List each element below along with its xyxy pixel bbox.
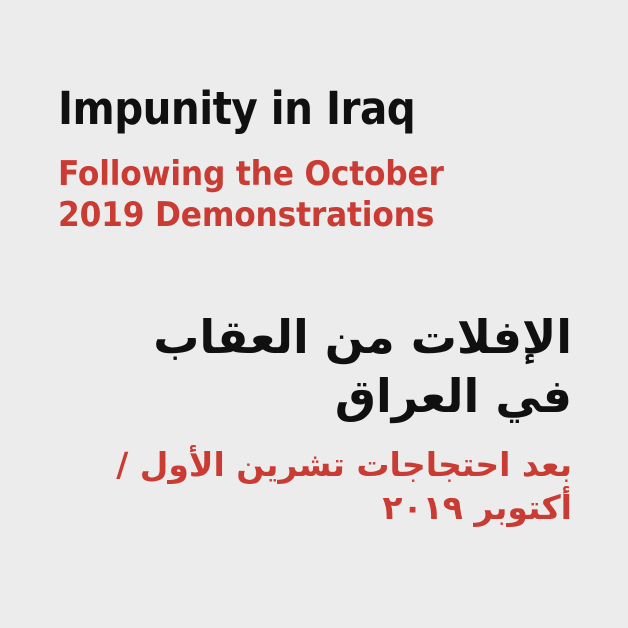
poster-cover: Impunity in Iraq Following the October 2… xyxy=(0,0,628,628)
arabic-heading-block: الإفلات من العقاب في العراق بعد احتجاجات… xyxy=(72,308,572,530)
page-title-arabic: الإفلات من العقاب في العراق xyxy=(72,308,572,426)
page-subtitle-english: Following the October 2019 Demonstration… xyxy=(58,132,536,237)
page-subtitle-arabic: بعد احتجاجات تشرين الأول / أكتوبر ٢٠١٩ xyxy=(72,426,572,530)
english-heading-block: Impunity in Iraq Following the October 2… xyxy=(58,86,578,237)
page-title-english: Impunity in Iraq xyxy=(58,86,526,132)
